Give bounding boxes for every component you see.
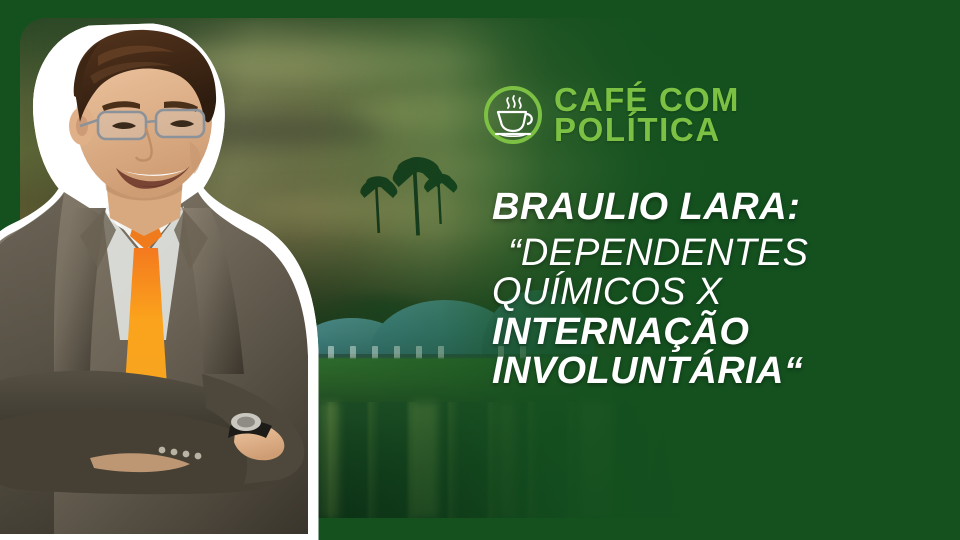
show-logo: CAFÉ COM POLÍTICA: [482, 84, 740, 146]
logo-line-2: POLÍTICA: [554, 115, 740, 145]
quote-line-1: “DEPENDENTES: [492, 234, 922, 274]
quote-line-2: QUÍMICOS X: [492, 273, 922, 313]
logo-wordmark: CAFÉ COM POLÍTICA: [554, 85, 740, 146]
youtube-thumbnail: CAFÉ COM POLÍTICA BRAULIO LARA: “DEPENDE…: [0, 0, 960, 540]
quote-line-3: INTERNAÇÃO: [492, 313, 922, 353]
speaker-name: BRAULIO LARA:: [492, 188, 922, 228]
guest-portrait-cutout: [0, 22, 324, 540]
headline-block: BRAULIO LARA: “DEPENDENTES QUÍMICOS X IN…: [492, 188, 922, 392]
coffee-cup-icon: [482, 84, 544, 146]
quote-line-4: INVOLUNTÁRIA“: [492, 352, 922, 392]
